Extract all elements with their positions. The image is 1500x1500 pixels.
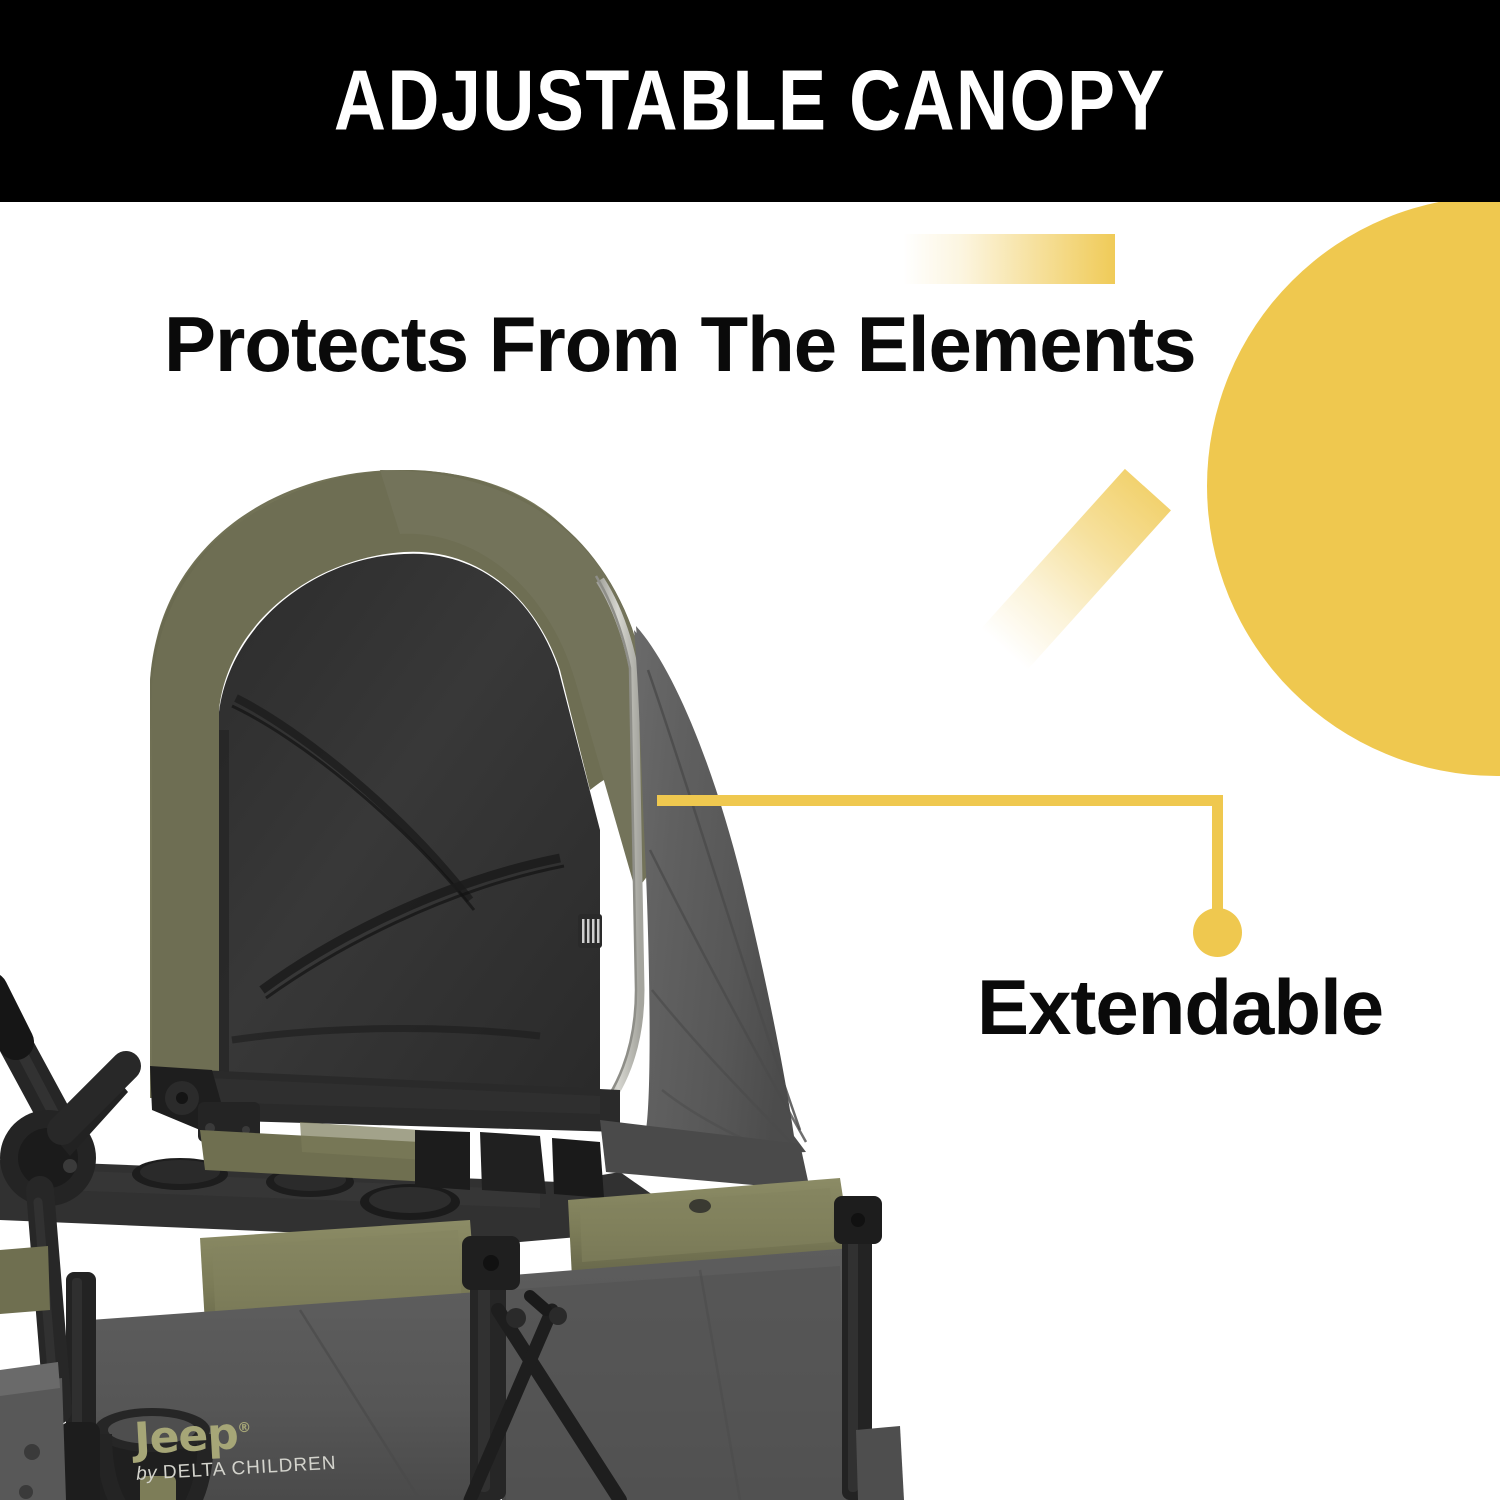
harness-strap-2 <box>480 1132 546 1194</box>
page-title: ADJUSTABLE CANOPY <box>334 59 1166 144</box>
wagon-body-right-hl <box>504 1266 846 1500</box>
left-panel-rivet-2 <box>19 1485 33 1499</box>
header-banner: ADJUSTABLE CANOPY <box>0 0 1500 202</box>
frame-brace-rivet-1 <box>506 1308 526 1328</box>
frame-right-leg-hl <box>848 1238 858 1492</box>
harness-strap-1 <box>415 1130 470 1190</box>
frame-center-rivet <box>483 1255 499 1271</box>
product-illustration <box>0 430 920 1500</box>
left-panel-rivet <box>24 1444 40 1460</box>
diagonal-gradient-bar-icon <box>981 469 1171 670</box>
jeep-grille-tab-icon <box>578 914 602 948</box>
harness-strap-3 <box>552 1138 604 1198</box>
page-subtitle: Protects From The Elements <box>164 305 1196 383</box>
jeep-brand-logo: Jeep® by DELTA CHILDREN <box>133 1407 337 1484</box>
callout-label-extendable: Extendable <box>977 968 1383 1046</box>
registered-trademark-icon: ® <box>237 1420 251 1437</box>
callout-line-horizontal <box>657 795 1223 806</box>
wagon-right-edge <box>856 1426 904 1500</box>
product-image <box>0 430 920 1500</box>
horizontal-gradient-bar-icon <box>903 234 1115 284</box>
callout-endpoint-dot <box>1193 908 1242 957</box>
canopy-interior-mesh <box>219 554 600 1090</box>
wagon-left-panel <box>0 1378 66 1500</box>
frame-brace-rivet-2 <box>549 1307 567 1325</box>
infographic-canvas: Jeep® by DELTA CHILDREN Extendable Prote… <box>0 0 1500 1500</box>
cupholder-well-3-inner <box>369 1187 451 1213</box>
large-yellow-circle-icon <box>1207 196 1500 776</box>
handle-sleeve <box>0 990 16 1042</box>
rail-snap-right <box>689 1199 711 1213</box>
vertical-gradient-bar-icon <box>1411 592 1460 758</box>
frame-right-rivet <box>851 1213 865 1227</box>
wagon-left-olive-scrap <box>0 1246 50 1314</box>
callout-line-vertical <box>1212 795 1223 917</box>
